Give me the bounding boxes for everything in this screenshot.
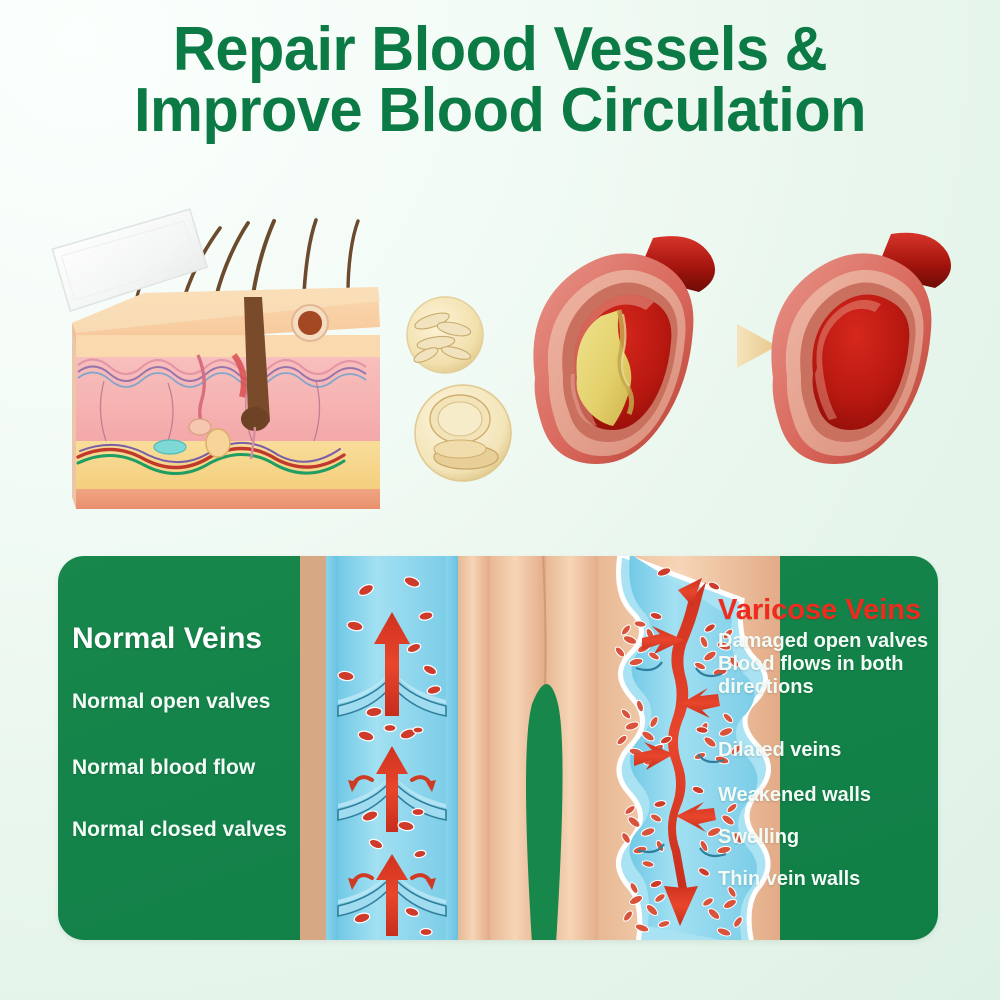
skin-cross-section-diagram (48, 205, 518, 525)
varicose-veins-item-0: Damaged open valves Blood flows in both … (718, 630, 938, 698)
leg-silhouettes (490, 556, 600, 940)
varicose-veins-item-2: Weakened walls (718, 784, 938, 807)
title-line-2: Improve Blood Circulation (20, 81, 980, 142)
dermis-layer (76, 357, 380, 443)
normal-veins-item-2: Normal closed valves (72, 818, 302, 842)
varicose-veins-item-3: Swelling (718, 826, 938, 849)
ingredient-circle-sliced-root (407, 297, 483, 373)
epidermis-layer (76, 335, 380, 359)
normal-veins-item-1: Normal blood flow (72, 756, 302, 780)
infographic-canvas: Repair Blood Vessels & Improve Blood Cir… (0, 0, 1000, 1000)
vein-comparison-panel: Normal Veins Normal open valves Normal b… (58, 556, 938, 940)
varicose-veins-item-1: Dilated veins (718, 739, 938, 762)
healthy-artery (771, 233, 951, 464)
vein-illustrations (300, 556, 780, 940)
varicose-veins-item-4: Thin vein walls (718, 868, 938, 891)
sebaceous-gland (206, 429, 230, 457)
muscle-layer (76, 489, 380, 509)
gland-body (154, 440, 186, 454)
normal-veins-heading: Normal Veins (72, 622, 262, 656)
transition-arrow (737, 324, 777, 368)
ingredient-circle-root-discs (415, 385, 511, 481)
clogged-artery (533, 236, 715, 464)
varicose-veins-heading: Varicose Veins (718, 594, 921, 627)
page-title: Repair Blood Vessels & Improve Blood Cir… (20, 20, 980, 142)
blood-vessel-comparison (505, 228, 965, 518)
normal-veins-item-0: Normal open valves (72, 690, 302, 714)
leg-divider-wedge (526, 684, 563, 940)
normal-vein-cutaway (300, 556, 490, 940)
title-line-1: Repair Blood Vessels & (20, 20, 980, 81)
